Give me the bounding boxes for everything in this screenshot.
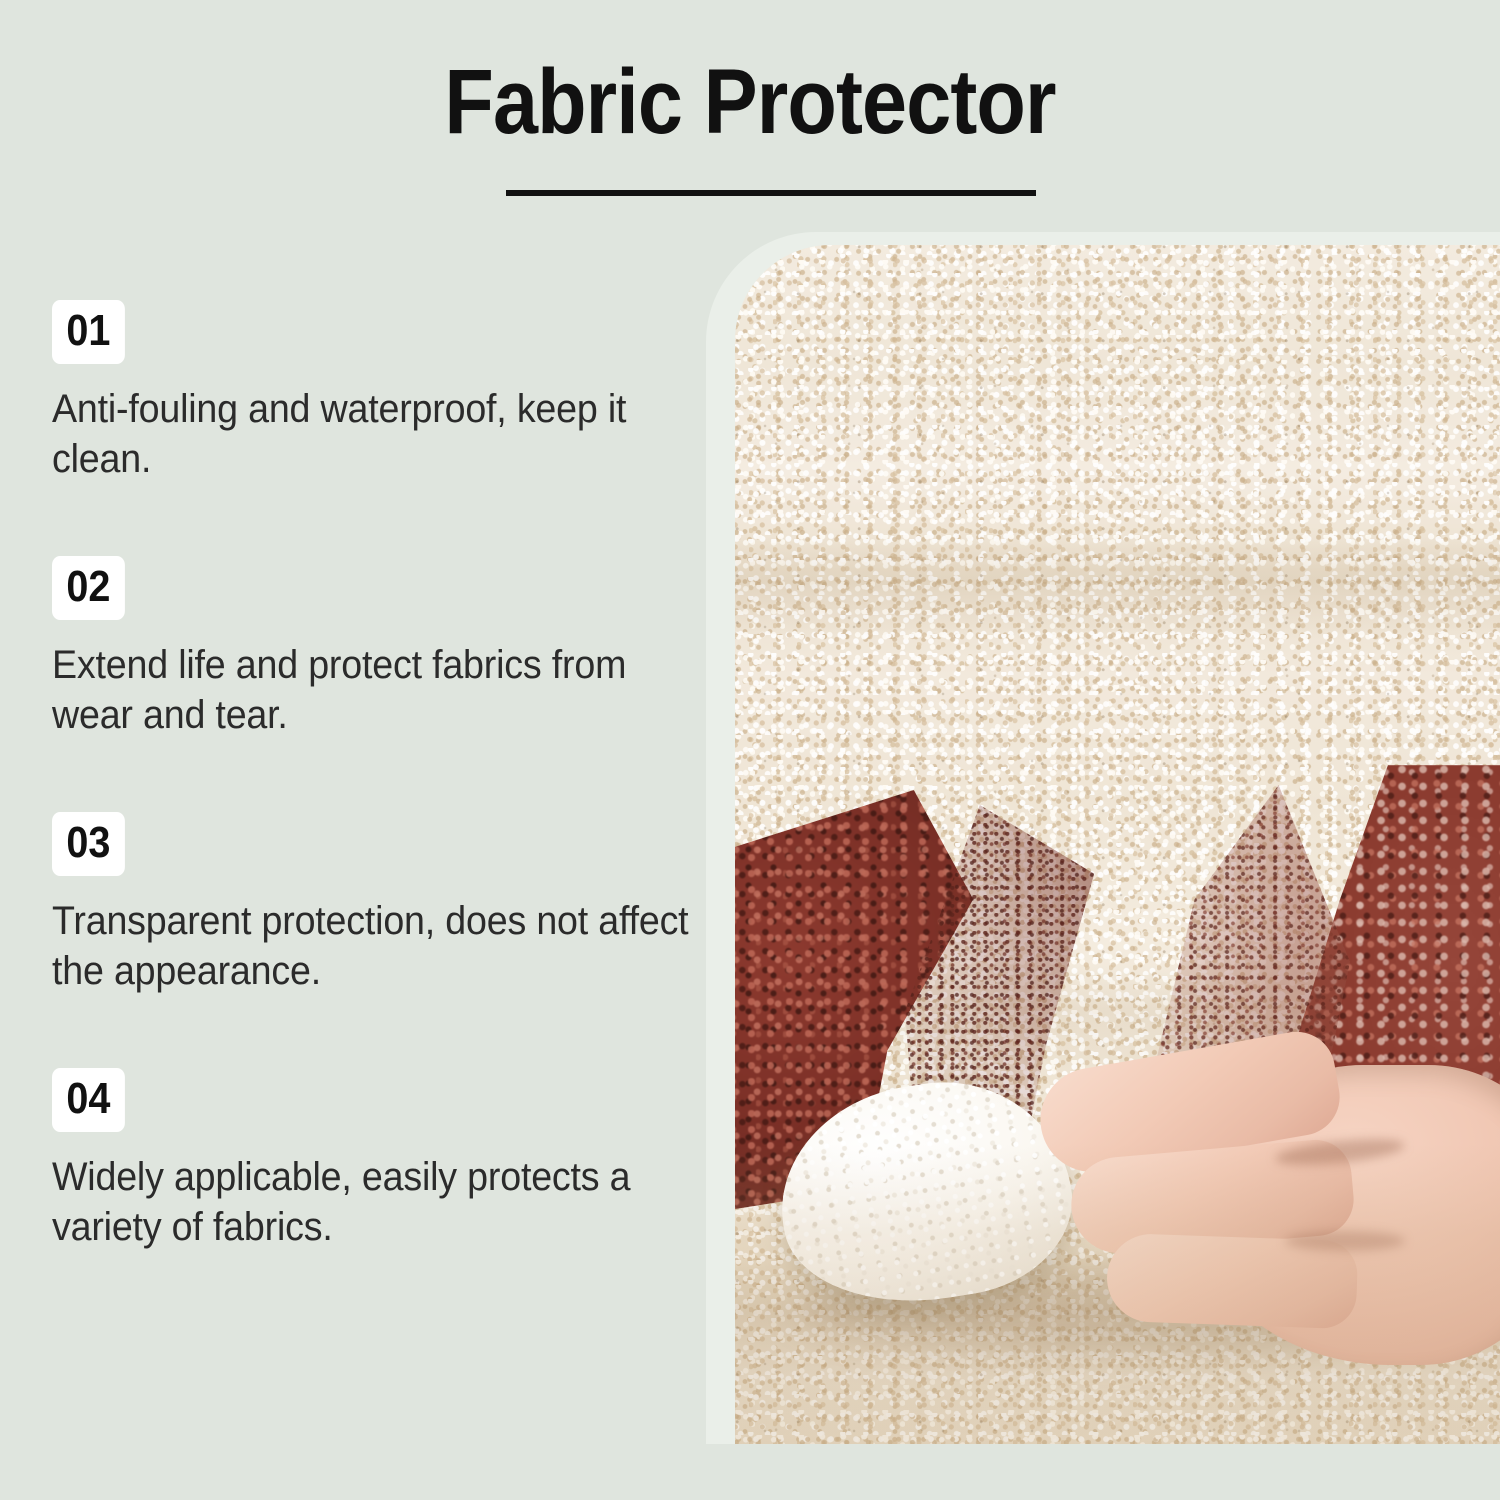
feature-list: 01 Anti-fouling and waterproof, keep it … [52, 300, 692, 1252]
title-underline-divider [506, 190, 1036, 196]
feature-text-03: Transparent protection, does not affect … [52, 896, 691, 996]
feature-number-badge-03: 03 [52, 812, 125, 876]
header: Fabric Protector [0, 0, 1500, 230]
feature-number-badge-04: 04 [52, 1068, 125, 1132]
feature-number-badge-01: 01 [52, 300, 125, 364]
feature-text-04: Widely applicable, easily protects a var… [52, 1152, 691, 1252]
feature-text-02: Extend life and protect fabrics from wea… [52, 640, 691, 740]
feature-text-01: Anti-fouling and waterproof, keep it cle… [52, 384, 691, 484]
carpet-lower-shading [735, 1144, 1500, 1444]
feature-number-badge-02: 02 [52, 556, 125, 620]
feature-item-01: 01 Anti-fouling and waterproof, keep it … [52, 300, 692, 484]
feature-item-03: 03 Transparent protection, does not affe… [52, 812, 692, 996]
infographic-canvas: Fabric Protector 01 Anti-fouling and wat… [0, 0, 1500, 1500]
product-photo [735, 245, 1500, 1444]
feature-item-04: 04 Widely applicable, easily protects a … [52, 1068, 692, 1252]
feature-item-02: 02 Extend life and protect fabrics from … [52, 556, 692, 740]
page-title: Fabric Protector [90, 52, 1410, 152]
